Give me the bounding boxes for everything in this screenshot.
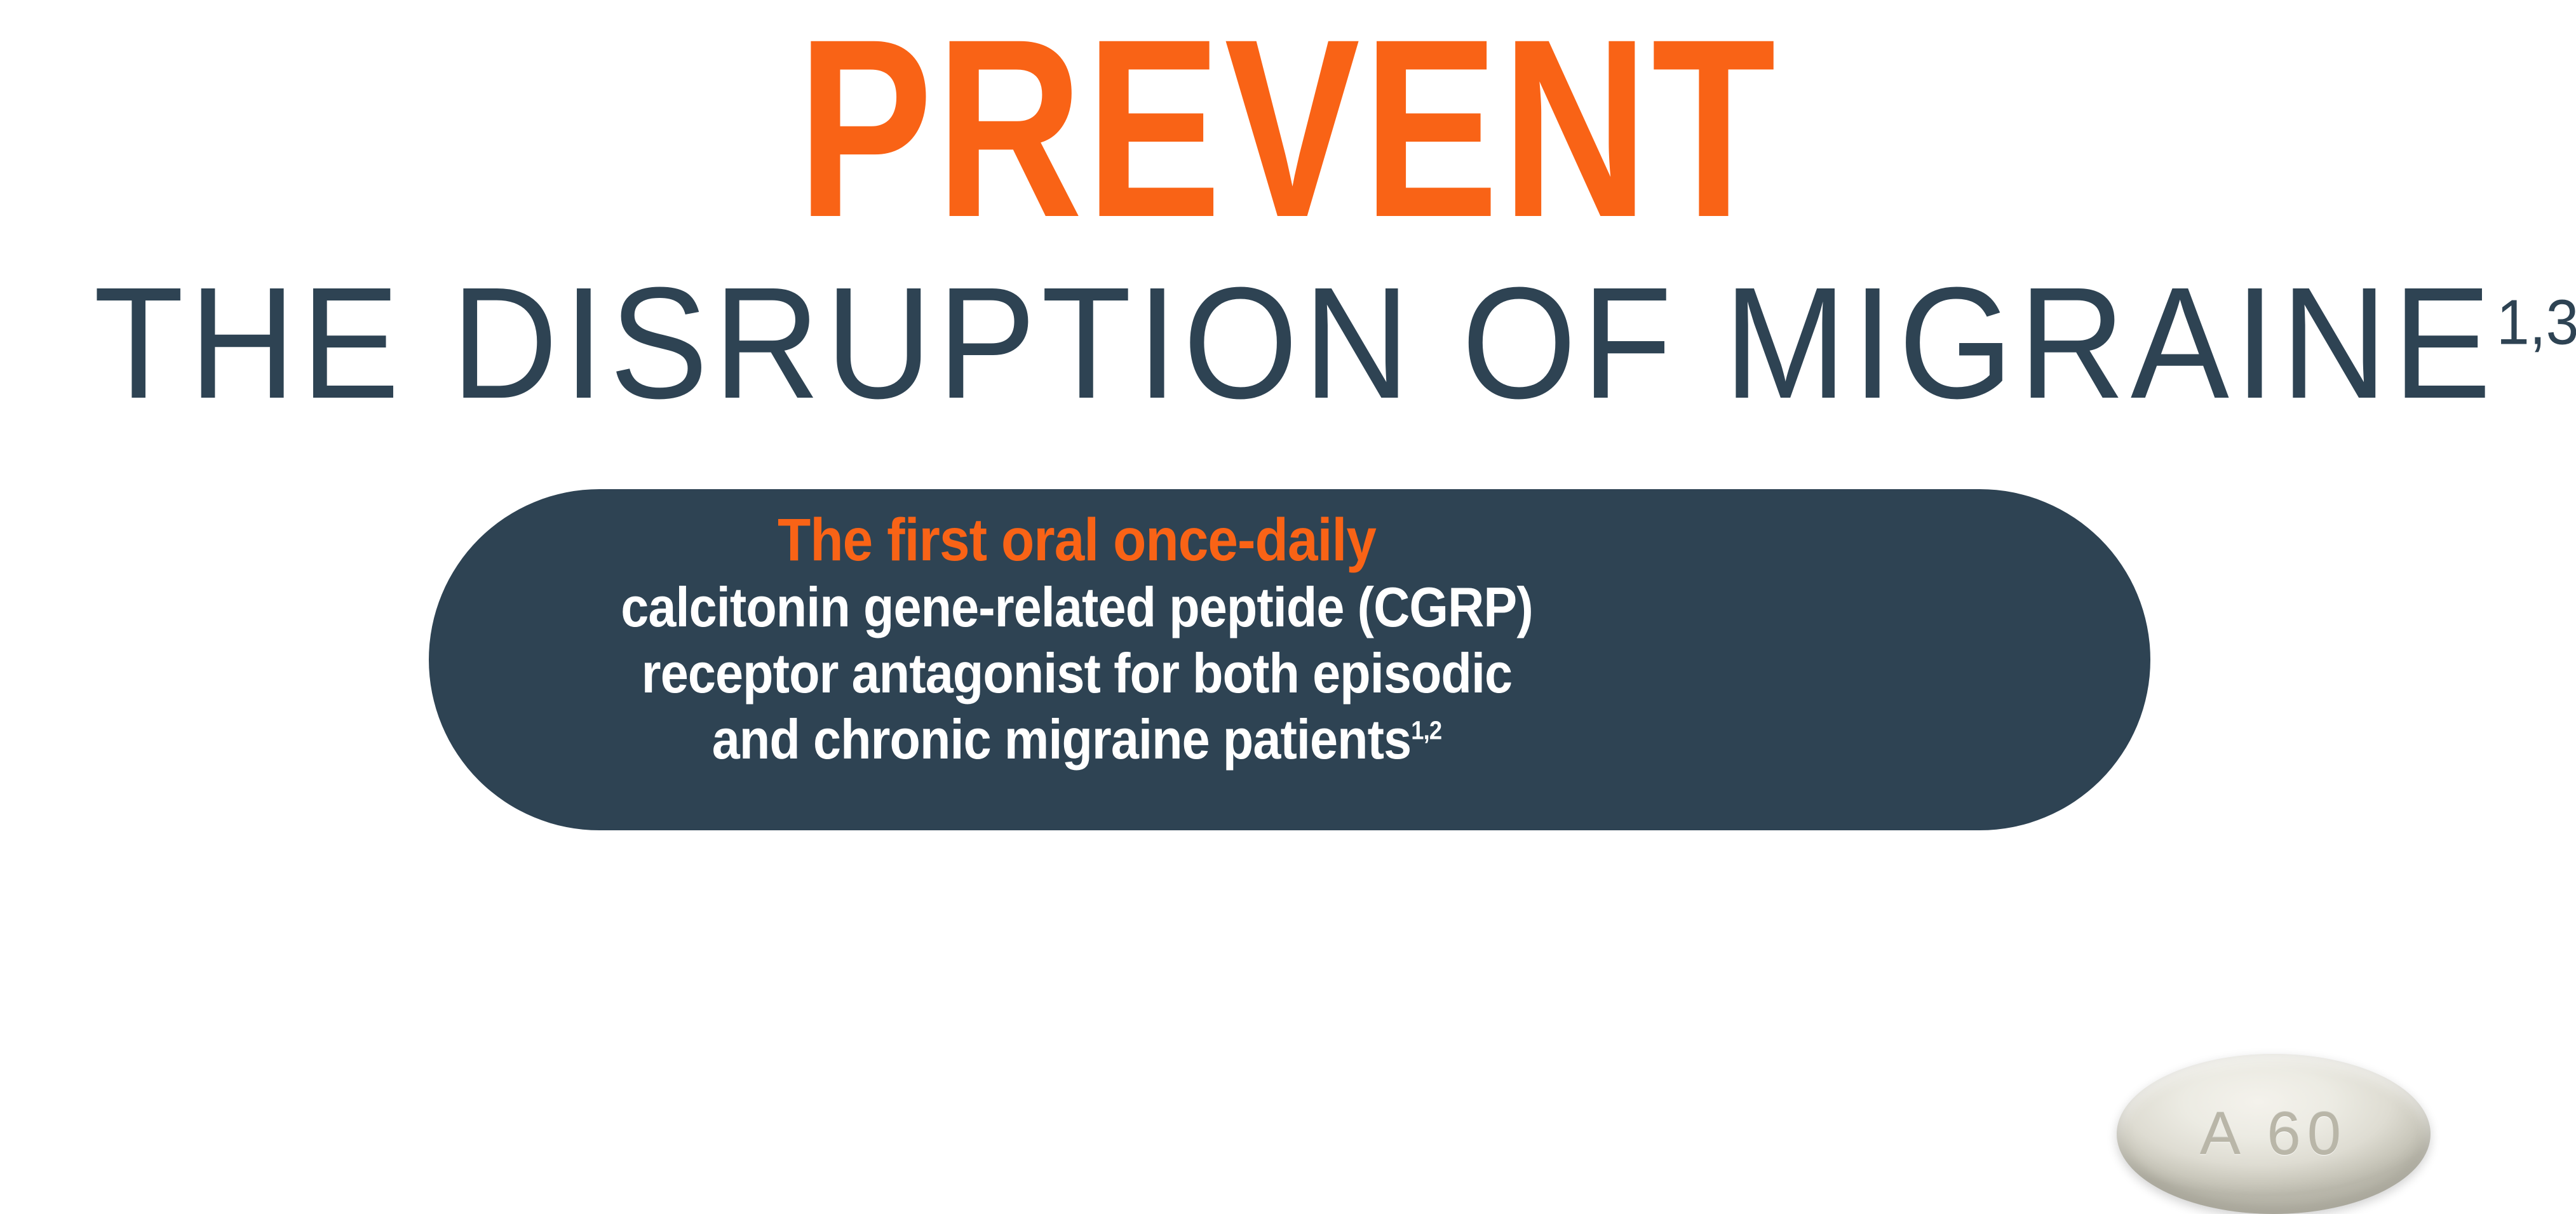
tablet-image: A 60 — [2117, 1054, 2431, 1214]
callout-body-line: and chronic migraine patients1,2 — [528, 706, 1626, 772]
callout-body-line: receptor antagonist for both episodic — [528, 640, 1626, 706]
page-headline: PREVENT — [258, 1, 2319, 255]
page-subheadline-text: THE DISRUPTION OF MIGRAINE — [93, 254, 2497, 431]
tablet-imprint-text: A 60 — [2117, 1103, 2431, 1164]
callout-reference-superscript: 1,2 — [1411, 716, 1441, 745]
product-callout-box: The first oral once-daily calcitonin gen… — [429, 489, 2150, 830]
callout-lead-line: The first oral once-daily — [528, 506, 1626, 574]
callout-text-block: The first oral once-daily calcitonin gen… — [467, 506, 1687, 772]
page-subheadline-container: THE DISRUPTION OF MIGRAINE1,3 — [0, 264, 2576, 422]
callout-body-text: calcitonin gene-related peptide (CGRP) r… — [467, 574, 1687, 772]
callout-body-line-text: and chronic migraine patients — [712, 708, 1412, 771]
page-subheadline: THE DISRUPTION OF MIGRAINE1,3 — [93, 264, 2576, 422]
page-subheadline-reference-superscript: 1,3 — [2497, 287, 2576, 358]
callout-body-line: calcitonin gene-related peptide (CGRP) — [528, 574, 1626, 640]
promo-banner: PREVENT THE DISRUPTION OF MIGRAINE1,3 Th… — [0, 0, 2576, 874]
